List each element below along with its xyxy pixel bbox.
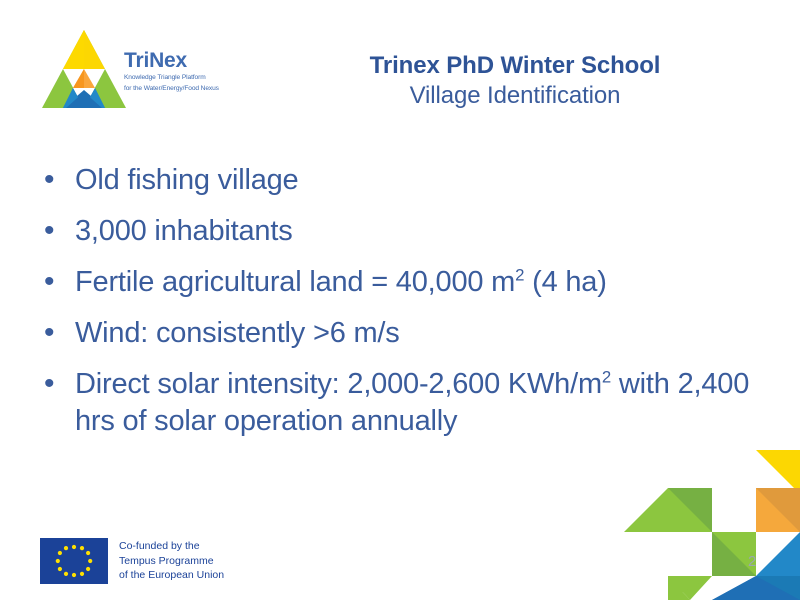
list-item-label: Wind: consistently >6 m/s [75,315,758,352]
list-item-label: Old fishing village [75,162,758,199]
page-subtitle: Village Identification [300,80,730,111]
list-item: • Old fishing village [38,162,758,199]
bullet-marker-icon: • [38,162,75,198]
trinex-logo-text: TriNex Knowledge Triangle Platform for t… [124,50,264,94]
slide-canvas: TriNex Knowledge Triangle Platform for t… [0,0,800,600]
list-item-label: Direct solar intensity: 2,000-2,600 KWh/… [75,366,758,440]
list-item: • Direct solar intensity: 2,000-2,600 KW… [38,366,758,440]
list-item: • Fertile agricultural land = 40,000 m2 … [38,264,758,301]
slide-number: 2 [748,553,756,570]
trinex-logo: TriNex Knowledge Triangle Platform for t… [40,28,265,116]
european-union-flag-icon [40,538,108,584]
trinex-triangle-logo-icon [40,28,128,112]
list-item-label: Fertile agricultural land = 40,000 m2 (4… [75,264,758,301]
title-block: Trinex PhD Winter School Village Identif… [300,52,730,112]
eu-funding-credit: Co-funded by the Tempus Programme of the… [119,539,224,584]
logo-tagline-line-1: Knowledge Triangle Platform [124,73,264,82]
bullet-marker-icon: • [38,213,75,249]
pinwheel-triangle-pattern-icon [620,450,800,600]
eu-credit-line-1: Co-funded by the [119,539,224,554]
bullet-marker-icon: • [38,315,75,351]
list-item-label: 3,000 inhabitants [75,213,758,250]
page-title: Trinex PhD Winter School [300,52,730,80]
bullet-marker-icon: • [38,264,75,300]
eu-credit-line-2: Tempus Programme [119,554,224,569]
eu-credit-line-3: of the European Union [119,568,224,583]
list-item: • Wind: consistently >6 m/s [38,315,758,352]
logo-tagline-line-2: for the Water/Energy/Food Nexus [124,84,264,93]
bullet-list: • Old fishing village • 3,000 inhabitant… [38,162,758,454]
logo-wordmark: TriNex [124,50,264,71]
bullet-marker-icon: • [38,366,75,402]
list-item: • 3,000 inhabitants [38,213,758,250]
eu-funding-footer: Co-funded by the Tempus Programme of the… [40,538,224,584]
